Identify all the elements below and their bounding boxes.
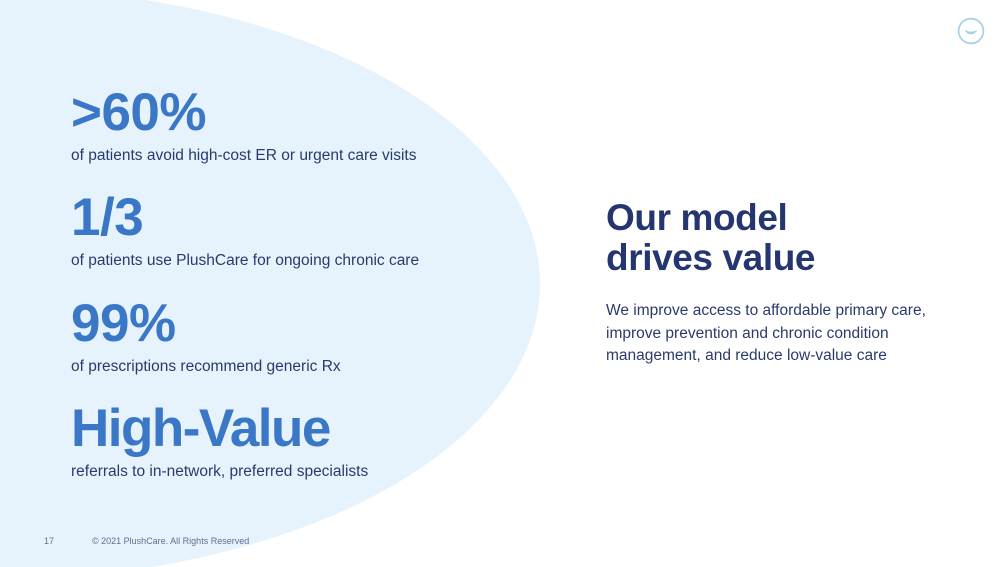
slide-footer: 17 © 2021 PlushCare. All Rights Reserved [44, 536, 249, 546]
stat-caption: referrals to in-network, preferred speci… [71, 462, 541, 481]
stat-number: High-Value [71, 402, 541, 455]
page-description-line-2: improve prevention and chronic condition [606, 323, 956, 346]
copyright-notice: © 2021 PlushCare. All Rights Reserved [92, 536, 249, 546]
slide-canvas: >60% of patients avoid high-cost ER or u… [0, 0, 1008, 567]
stat-item: 99% of prescriptions recommend generic R… [71, 297, 541, 376]
stat-item: >60% of patients avoid high-cost ER or u… [71, 86, 541, 165]
page-number: 17 [44, 536, 92, 546]
page-title-line-2: drives value [606, 238, 956, 278]
value-proposition-block: Our model drives value We improve access… [606, 198, 956, 368]
stat-item: 1/3 of patients use PlushCare for ongoin… [71, 191, 541, 270]
page-description: We improve access to affordable primary … [606, 300, 956, 368]
page-description-line-3: management, and reduce low-value care [606, 345, 956, 368]
plushcare-smile-logo-icon [956, 16, 986, 46]
stat-number: 1/3 [71, 191, 541, 244]
statistics-list: >60% of patients avoid high-cost ER or u… [71, 86, 541, 482]
stat-caption: of patients use PlushCare for ongoing ch… [71, 251, 541, 270]
stat-caption: of prescriptions recommend generic Rx [71, 357, 541, 376]
stat-item: High-Value referrals to in-network, pref… [71, 402, 541, 481]
page-title-line-1: Our model [606, 198, 956, 238]
stat-number: >60% [71, 86, 541, 139]
stat-number: 99% [71, 297, 541, 350]
stat-caption: of patients avoid high-cost ER or urgent… [71, 146, 541, 165]
page-title: Our model drives value [606, 198, 956, 278]
page-description-line-1: We improve access to affordable primary … [606, 300, 956, 323]
